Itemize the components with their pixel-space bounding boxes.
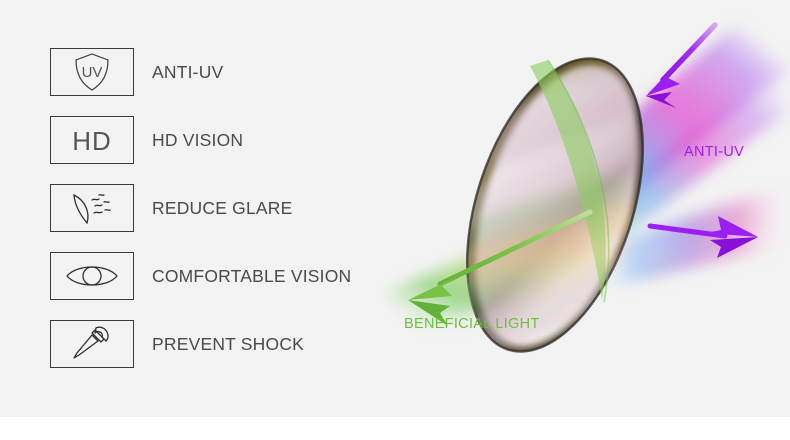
feature-label: PREVENT SHOCK (152, 334, 304, 355)
feature-label: REDUCE GLARE (152, 198, 293, 219)
uv-icon-text: UV (82, 64, 103, 81)
hammer-icon (50, 320, 134, 368)
lens-illustration (380, 0, 790, 440)
glare-deflect-icon (50, 184, 134, 232)
beneficial-light-caption: BENEFICIAL LIGHT (404, 316, 540, 332)
hd-icon: HD (50, 116, 134, 164)
anti-uv-caption: ANTI-UV (684, 144, 744, 160)
promo-graphic: UV ANTI-UV HD HD VISION (0, 0, 790, 440)
feature-label: COMFORTABLE VISION (152, 266, 351, 287)
feature-label: HD VISION (152, 130, 243, 151)
feature-label: ANTI-UV (152, 62, 223, 83)
hd-icon-text: HD (72, 126, 112, 156)
uv-shield-icon: UV (50, 48, 134, 96)
eye-icon (50, 252, 134, 300)
